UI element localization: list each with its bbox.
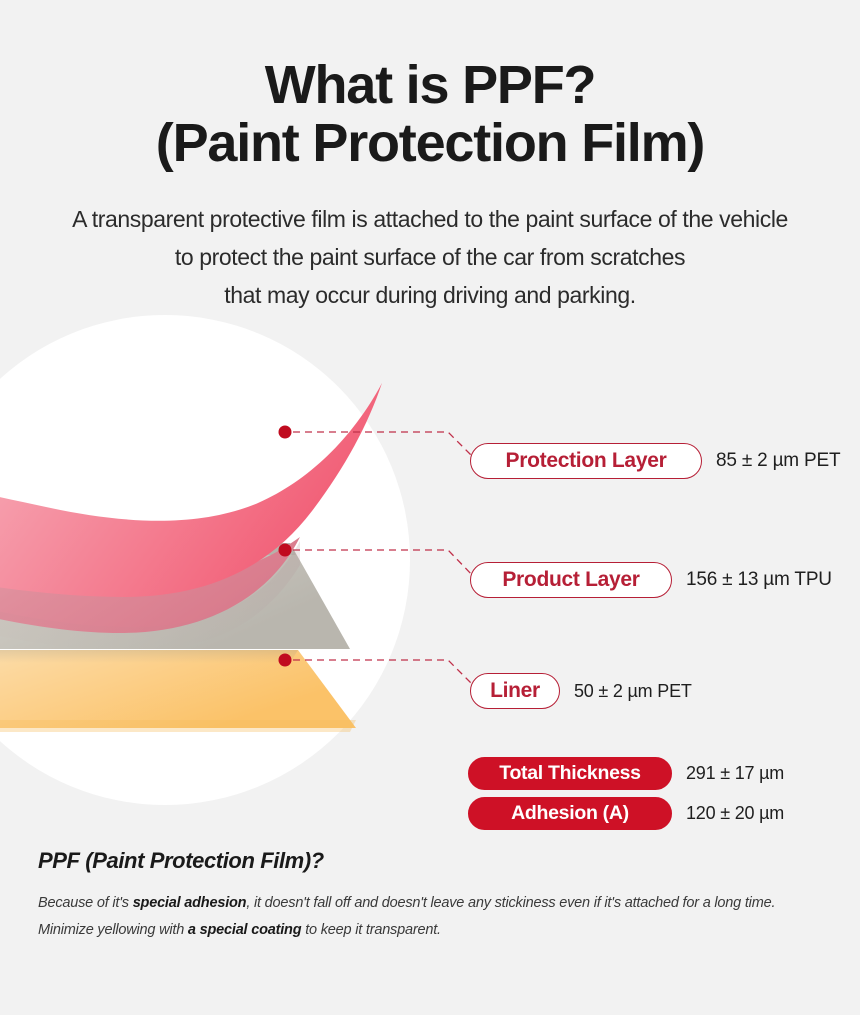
header: What is PPF? (Paint Protection Film) A t… — [0, 56, 860, 314]
footer-line-2-pre: Minimize yellowing with — [38, 922, 188, 938]
subtitle: A transparent protective film is attache… — [0, 200, 860, 314]
callout-liner: Liner 50 ± 2 µm PET — [470, 673, 692, 709]
callout-protection-layer: Protection Layer 85 ± 2 µm PET — [470, 443, 840, 479]
subtitle-line-3: that may occur during driving and parkin… — [0, 276, 860, 314]
footer-line-2-post: to keep it transparent. — [301, 922, 440, 938]
footer-line-1-pre: Because of it's — [38, 895, 133, 911]
footer-line-2: Minimize yellowing with a special coatin… — [38, 917, 828, 944]
subtitle-line-1: A transparent protective film is attache… — [0, 200, 860, 238]
page-title-line-2: (Paint Protection Film) — [0, 114, 860, 172]
adhesion-badge[interactable]: Adhesion (A) — [468, 797, 672, 830]
layer-spec-protection: 85 ± 2 µm PET — [716, 450, 840, 472]
total-thickness-badge[interactable]: Total Thickness — [468, 757, 672, 790]
layer-badge-product[interactable]: Product Layer — [470, 562, 672, 598]
callout-product-layer: Product Layer 156 ± 13 µm TPU — [470, 562, 832, 598]
footer-line-1-post: , it doesn't fall off and doesn't leave … — [246, 895, 775, 911]
callout-adhesion: Adhesion (A) 120 ± 20 µm — [468, 797, 784, 830]
footer-line-1: Because of it's special adhesion, it doe… — [38, 890, 828, 917]
callout-total-thickness: Total Thickness 291 ± 17 µm — [468, 757, 784, 790]
layer-badge-liner[interactable]: Liner — [470, 673, 560, 709]
total-thickness-spec: 291 ± 17 µm — [686, 763, 784, 784]
layer-spec-liner: 50 ± 2 µm PET — [574, 681, 692, 702]
adhesion-spec: 120 ± 20 µm — [686, 803, 784, 824]
connector-dot-protection — [279, 426, 292, 439]
connector-dot-product — [279, 544, 292, 557]
footer: PPF (Paint Protection Film)? Because of … — [38, 848, 828, 944]
layer-badge-protection[interactable]: Protection Layer — [470, 443, 702, 479]
ppf-layer-illustration — [0, 315, 520, 815]
layer-spec-product: 156 ± 13 µm TPU — [686, 569, 832, 591]
footer-heading: PPF (Paint Protection Film)? — [38, 848, 828, 874]
footer-line-2-bold: a special coating — [188, 922, 301, 938]
connector-dot-liner — [279, 654, 292, 667]
subtitle-line-2: to protect the paint surface of the car … — [0, 238, 860, 276]
footer-body: Because of it's special adhesion, it doe… — [38, 890, 828, 944]
page-title-line-1: What is PPF? — [0, 56, 860, 114]
footer-line-1-bold: special adhesion — [133, 895, 247, 911]
ppf-infographic: What is PPF? (Paint Protection Film) A t… — [0, 0, 860, 1015]
